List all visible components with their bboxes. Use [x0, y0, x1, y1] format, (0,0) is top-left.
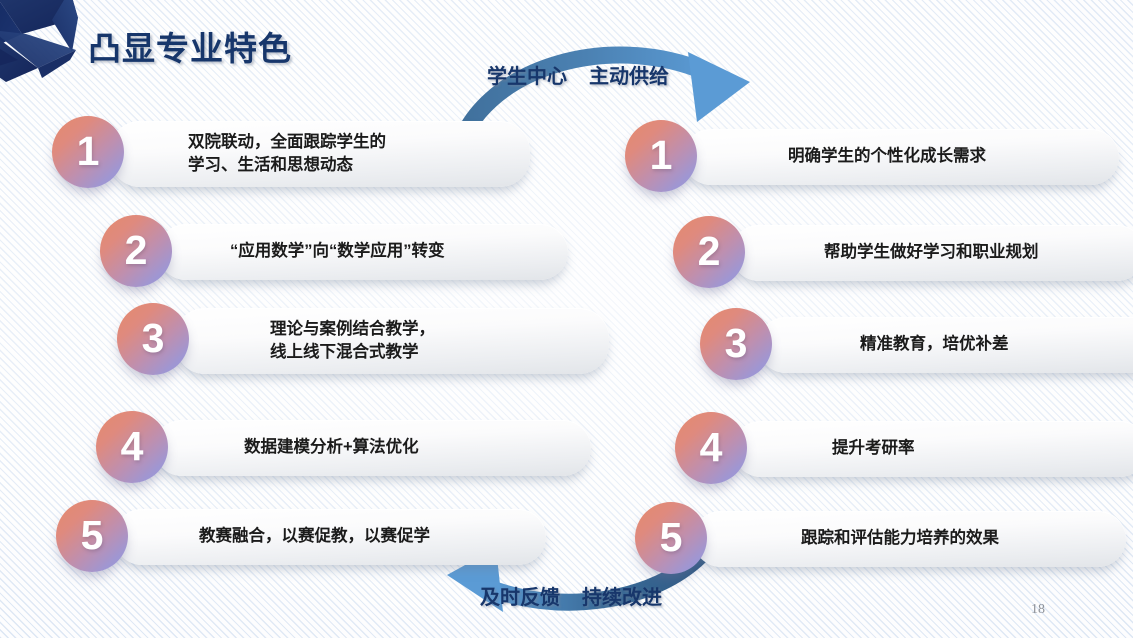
item-pill: 精准教育，培优补差: [758, 317, 1133, 373]
item-pill: 教赛融合，以赛促教，以赛促学: [114, 509, 546, 565]
item-number-badge: 1: [52, 116, 124, 188]
item-number-badge: 4: [96, 411, 168, 483]
item-text: 理论与案例结合教学， 线上线下混合式教学: [270, 318, 435, 365]
item-number: 2: [125, 230, 148, 271]
item-text: 帮助学生做好学习和职业规划: [824, 241, 1039, 264]
item-number: 5: [660, 517, 683, 558]
bottom-arc-label: 及时反馈持续改进: [480, 581, 662, 610]
top-arc-label-b: 主动供给: [589, 66, 669, 88]
item-text: 教赛融合，以赛促教，以赛促学: [199, 525, 430, 548]
item-text: “应用数学”向“数学应用”转变: [230, 240, 445, 263]
item-pill: 跟踪和评估能力培养的效果: [693, 511, 1126, 567]
bottom-arc-label-a: 及时反馈: [480, 587, 560, 609]
item-number-badge: 2: [100, 215, 172, 287]
item-number: 2: [698, 231, 721, 272]
item-number: 3: [142, 318, 165, 359]
item-number-badge: 5: [635, 502, 707, 574]
item-number: 1: [77, 131, 100, 172]
item-number-badge: 2: [673, 216, 745, 288]
item-number: 4: [700, 427, 723, 468]
slide-canvas: 凸显专业特色 学生中心主动供给 及时反馈持续: [0, 0, 1133, 638]
page-title: 凸显专业特色: [88, 22, 292, 70]
item-text: 数据建模分析+算法优化: [244, 436, 419, 459]
item-text: 明确学生的个性化成长需求: [788, 145, 986, 168]
item-pill: 明确学生的个性化成长需求: [683, 129, 1119, 185]
bottom-arc-label-b: 持续改进: [582, 587, 662, 609]
item-number: 1: [650, 135, 673, 176]
item-text: 提升考研率: [832, 437, 915, 460]
item-pill: 帮助学生做好学习和职业规划: [731, 225, 1133, 281]
item-number: 3: [725, 323, 748, 364]
top-arc-label: 学生中心主动供给: [487, 60, 669, 89]
item-pill: “应用数学”向“数学应用”转变: [158, 224, 568, 280]
item-number-badge: 3: [700, 308, 772, 380]
item-number-badge: 4: [675, 412, 747, 484]
item-text: 双院联动，全面跟踪学生的 学习、生活和思想动态: [188, 131, 386, 178]
item-number-badge: 1: [625, 120, 697, 192]
top-arc-label-a: 学生中心: [487, 66, 567, 88]
item-number: 4: [121, 426, 144, 467]
item-number-badge: 5: [56, 500, 128, 572]
item-pill: 双院联动，全面跟踪学生的 学习、生活和思想动态: [110, 121, 530, 187]
item-number-badge: 3: [117, 303, 189, 375]
item-pill: 数据建模分析+算法优化: [154, 420, 591, 476]
item-pill: 提升考研率: [733, 421, 1133, 477]
item-text: 精准教育，培优补差: [860, 333, 1009, 356]
item-number: 5: [81, 515, 104, 556]
item-text: 跟踪和评估能力培养的效果: [801, 527, 999, 550]
item-pill: 理论与案例结合教学， 线上线下混合式教学: [175, 308, 609, 374]
page-number: 18: [1031, 602, 1045, 618]
